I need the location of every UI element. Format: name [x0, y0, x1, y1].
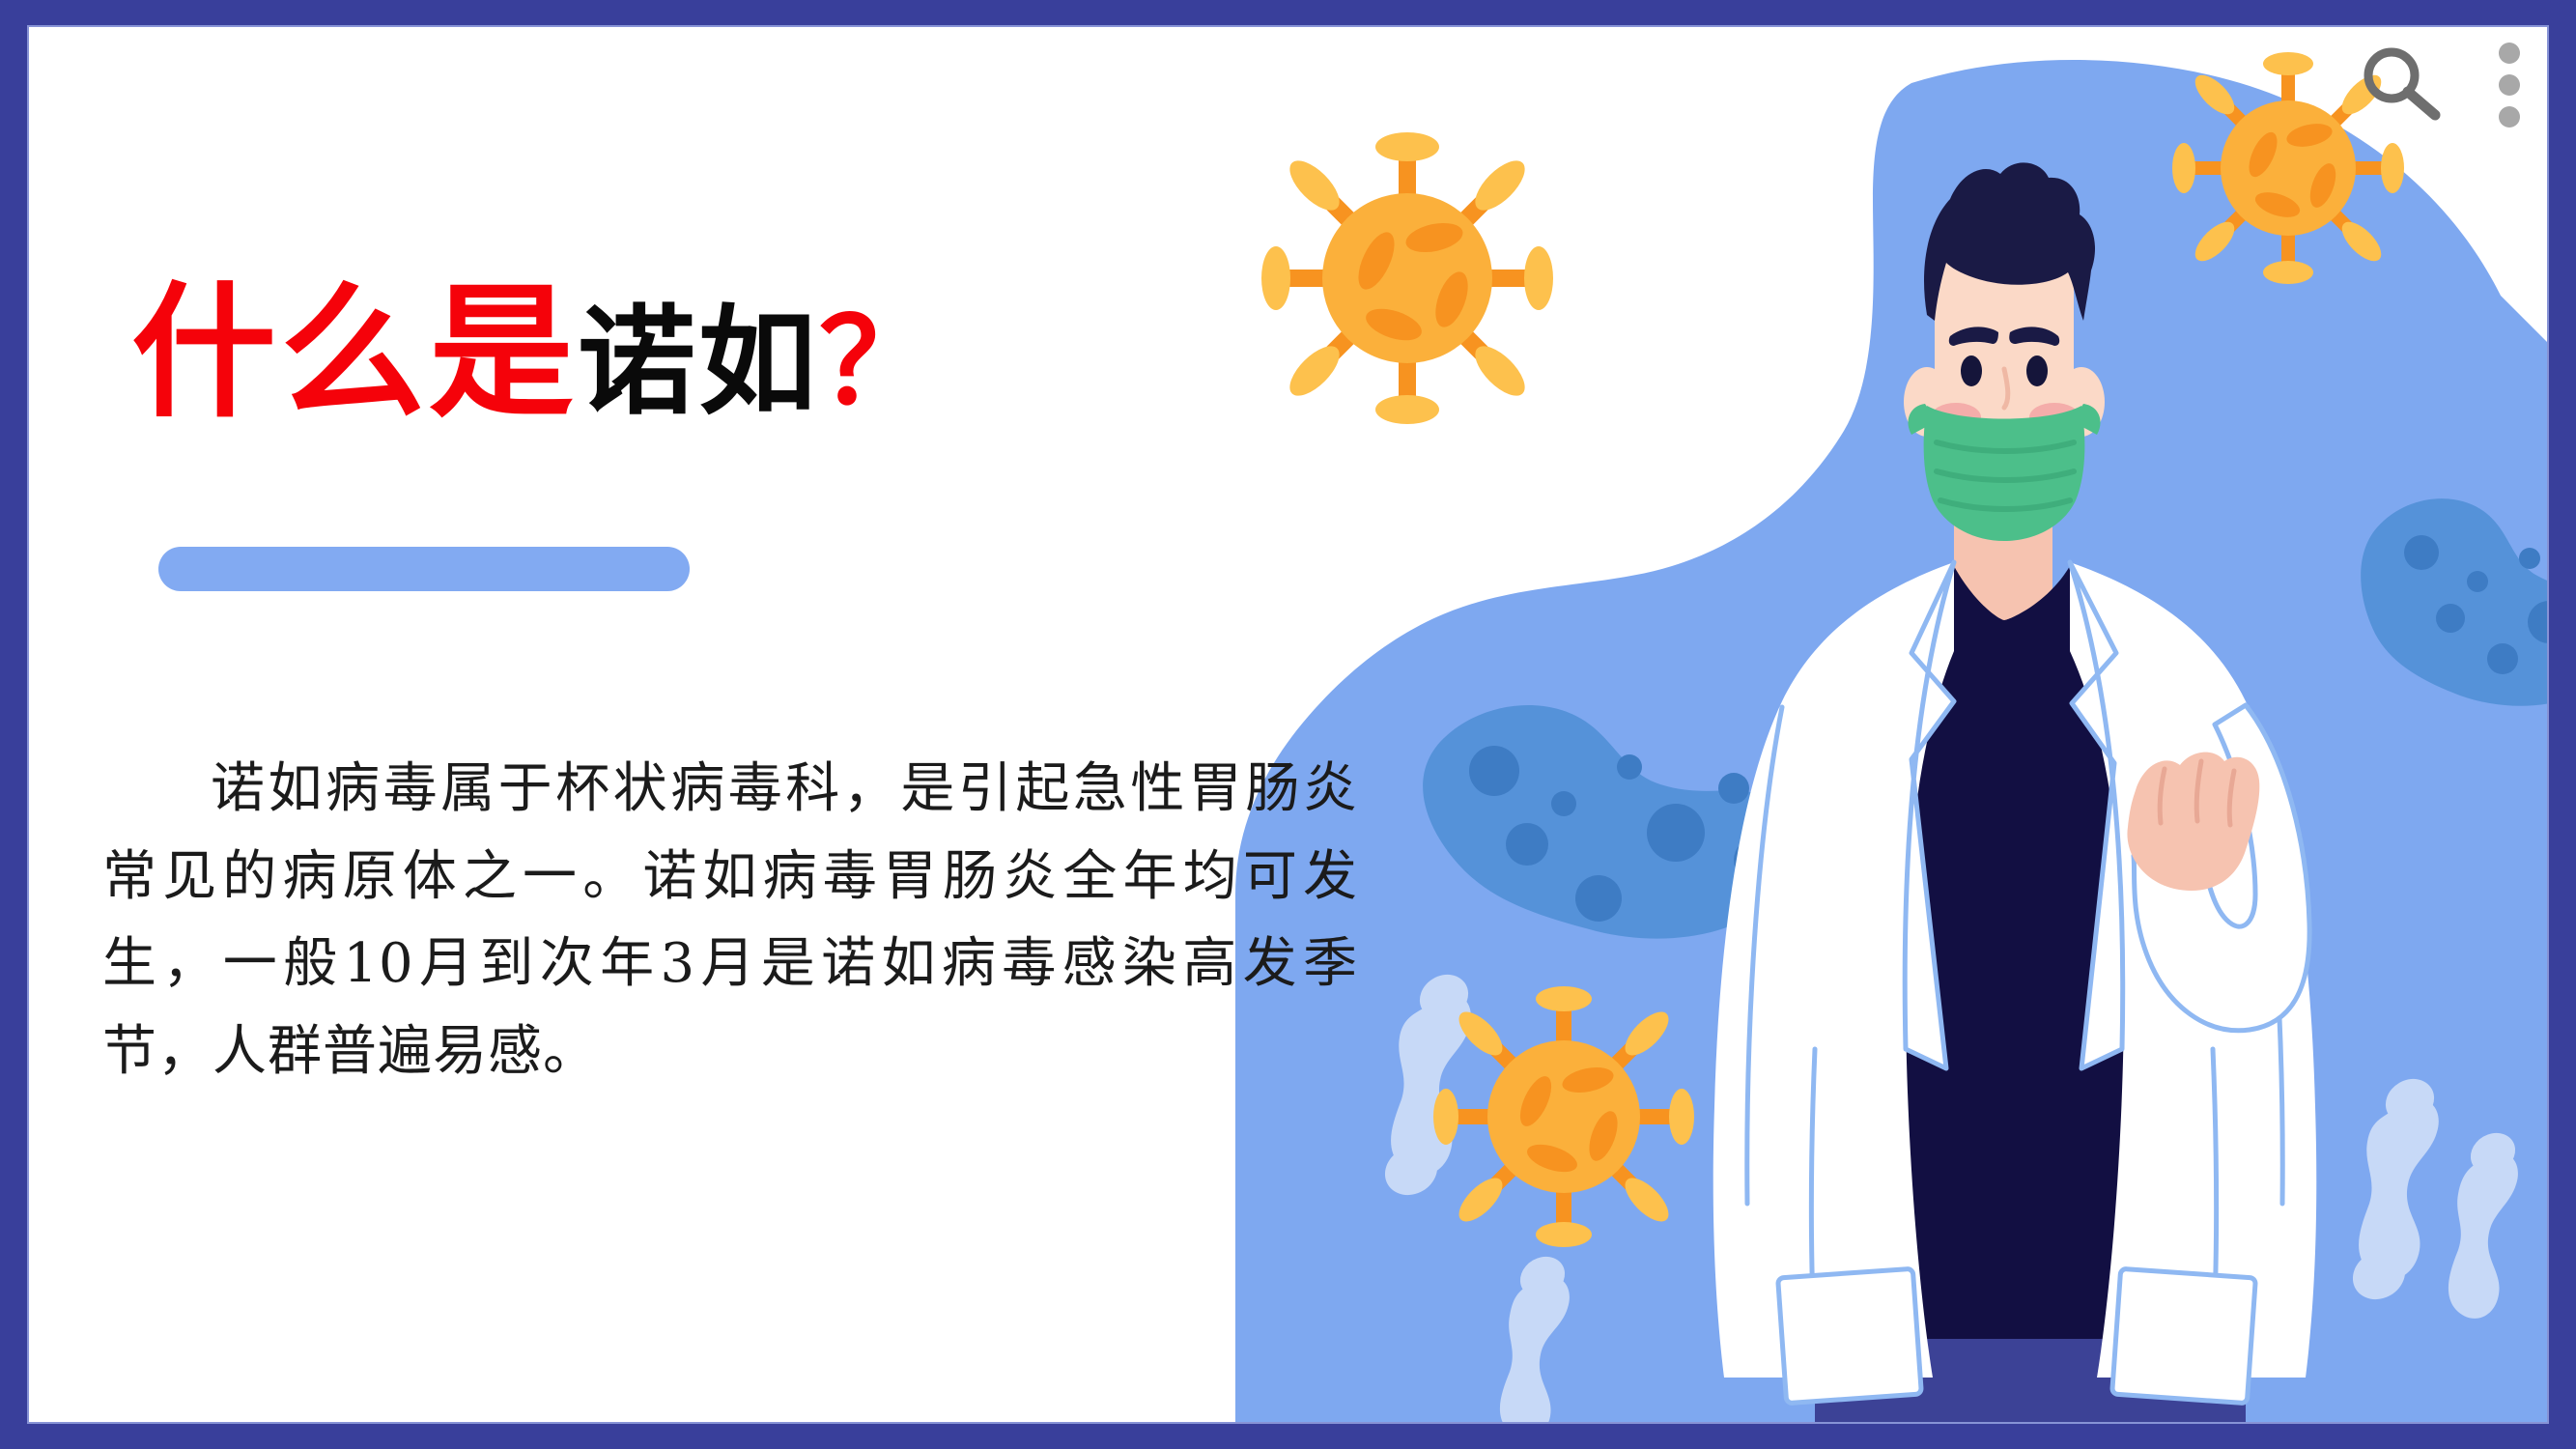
menu-dot-1 [2499, 43, 2520, 64]
search-icon[interactable] [2360, 43, 2443, 127]
more-vertical-icon[interactable] [2487, 37, 2532, 133]
body-paragraph: 诺如病毒属于杯状病毒科，是引起急性胃肠炎常见的病原体之一。诺如病毒胃肠炎全年均可… [102, 746, 1358, 1096]
virus-top-left [1261, 132, 1553, 424]
menu-dot-2 [2499, 74, 2520, 96]
page-title: 什么是诺如？ [131, 281, 937, 426]
doctor-illustration-svg [1235, 25, 2549, 1424]
doctor-eye-right [2026, 355, 2048, 386]
page-title-red: 什么是 [131, 270, 578, 438]
title-underline-bar [158, 547, 690, 591]
illustration-panel [1235, 25, 2549, 1424]
menu-dot-3 [2499, 106, 2520, 128]
page-title-question-mark: ？ [819, 294, 937, 431]
slide-root: 什么是诺如？ 诺如病毒属于杯状病毒科，是引起急性胃肠炎常见的病原体之一。诺如病毒… [0, 0, 2576, 1449]
toolbar [2360, 37, 2532, 133]
doctor-pocket-left [1778, 1268, 1922, 1403]
virus-bottom [1433, 986, 1694, 1247]
doctor-pocket-right [2112, 1268, 2256, 1403]
page-title-black: 诺如 [578, 294, 819, 431]
slide-card: 什么是诺如？ 诺如病毒属于杯状病毒科，是引起急性胃肠炎常见的病原体之一。诺如病毒… [27, 25, 2549, 1424]
doctor-eye-left [1961, 355, 1982, 386]
